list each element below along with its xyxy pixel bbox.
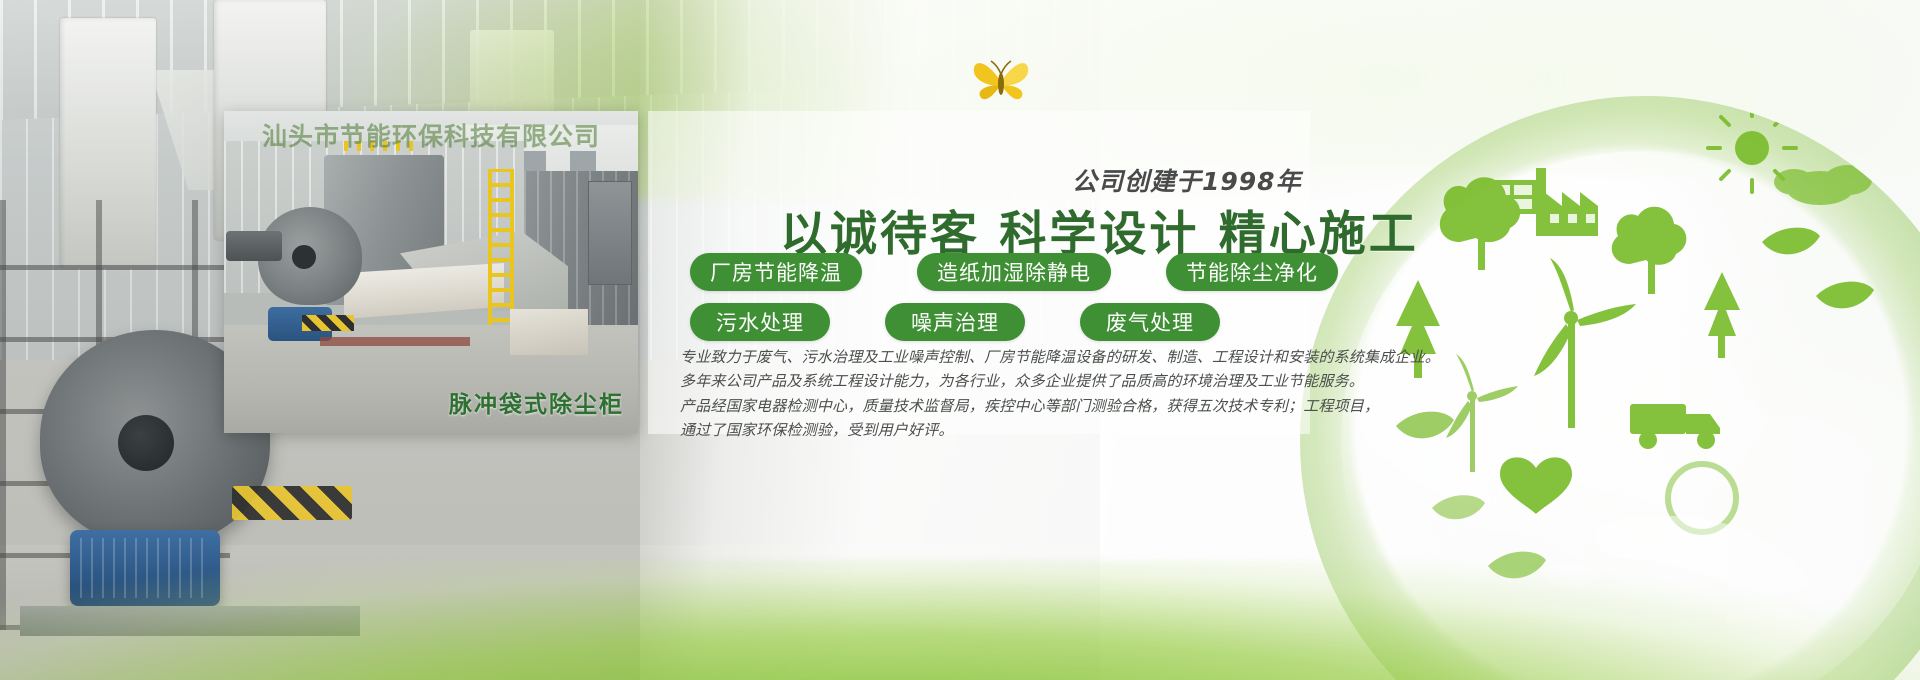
founding-year-eyebrow: 公司创建于1998年 <box>1072 162 1302 198</box>
service-tag[interactable]: 污水处理 <box>690 303 830 341</box>
description-line: 专业致力于废气、污水治理及工业噪声控制、厂房节能降温设备的研发、制造、工程设计和… <box>680 345 1320 369</box>
photo-caption: 脉冲袋式除尘柜 <box>449 385 624 419</box>
factory-icon <box>1536 168 1598 236</box>
butterfly-icon <box>970 48 1032 110</box>
leaf-icon <box>1816 282 1874 309</box>
tree-icon <box>1612 207 1687 294</box>
leaf-icon <box>1432 495 1485 519</box>
cloud-icon <box>1774 165 1872 205</box>
service-tag[interactable]: 废气处理 <box>1080 303 1220 341</box>
wind-turbine-icon <box>1534 258 1636 428</box>
bottom-green-band <box>0 560 1920 680</box>
photo-watermark: 汕头市节能环保科技有限公司 <box>224 111 638 159</box>
description-line: 多年来公司产品及系统工程设计能力，为各行业，众多企业提供了品质高的环境治理及工业… <box>680 369 1320 393</box>
photo-red-base <box>320 337 470 346</box>
promo-banner: 汕头市节能环保科技有限公司 脉冲袋式除尘柜 公司创建于1998年 以诚待客 科学… <box>0 0 1920 680</box>
service-tag-row-2: 污水处理 噪声治理 废气处理 <box>690 303 1290 341</box>
service-tag[interactable]: 造纸加湿除静电 <box>917 253 1111 291</box>
background-hazard-stripe <box>232 486 352 520</box>
wind-turbine-icon <box>1446 354 1518 472</box>
photo-equipment-crate <box>510 309 588 355</box>
service-tag-row-1: 厂房节能降温 造纸加湿除静电 节能除尘净化 <box>690 253 1290 291</box>
photo-hazard-stripe <box>302 315 354 331</box>
tree-icon <box>1704 272 1740 358</box>
background-blower-hub <box>118 415 174 471</box>
leaf-icon <box>1762 228 1820 255</box>
service-tag-list: 厂房节能降温 造纸加湿除静电 节能除尘净化 污水处理 噪声治理 废气处理 <box>690 253 1290 353</box>
photo-inlet-pipe <box>226 231 282 261</box>
photo-blower-hub <box>292 245 316 269</box>
truck-icon <box>1630 404 1720 449</box>
company-description: 专业致力于废气、污水治理及工业噪声控制、厂房节能降温设备的研发、制造、工程设计和… <box>680 345 1320 442</box>
service-tag[interactable]: 噪声治理 <box>885 303 1025 341</box>
description-line: 产品经国家电器检测中心，质量技术监督局，疾控中心等部门测验合格，获得五次技术专利… <box>680 394 1320 418</box>
product-photo-card: 汕头市节能环保科技有限公司 脉冲袋式除尘柜 <box>224 111 638 433</box>
service-tag[interactable]: 厂房节能降温 <box>690 253 862 291</box>
heart-icon <box>1500 457 1572 514</box>
service-tag[interactable]: 节能除尘净化 <box>1166 253 1338 291</box>
leaf-icon <box>1396 412 1454 439</box>
photo-access-door <box>588 181 632 285</box>
description-line: 通过了国家环保检测验，受到用户好评。 <box>680 418 1320 442</box>
